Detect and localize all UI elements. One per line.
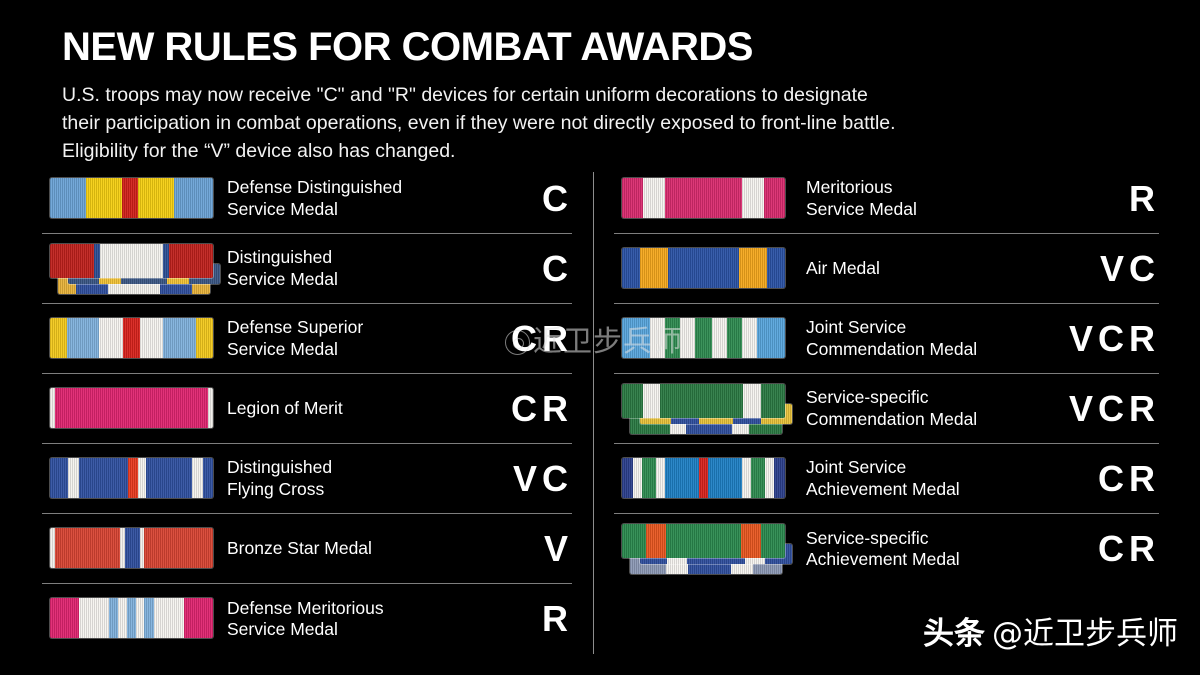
award-name-line: Commendation Medal [806,339,1031,360]
ribbon-joint-service-commendation-medal [614,304,806,374]
ribbon-service-specific-achievement-medal-stack-main [622,524,785,558]
award-devices: R [1037,181,1159,217]
award-row: Service-specificCommendation MedalVCR [614,374,1159,444]
award-devices: CR [454,391,572,427]
ribbon-bronze-star-medal-main [50,528,213,568]
award-row: MeritoriousService MedalR [614,164,1159,234]
ribbon-service-specific-commendation-medal-stack [614,374,806,444]
award-name: Service-specificCommendation Medal [806,387,1037,430]
award-name-line: Commendation Medal [806,409,1031,430]
award-row: Joint ServiceCommendation MedalVCR [614,304,1159,374]
device-letter: V [513,458,537,499]
ribbon-defense-superior-service-medal-main [50,318,213,358]
award-name-line: Distinguished [227,247,448,268]
award-devices: VC [454,461,572,497]
ribbon-service-specific-achievement-medal-stack [614,514,806,584]
device-letter: R [542,318,568,359]
device-letter: C [542,458,568,499]
corner-watermark-handle: @近卫步兵师 [992,616,1178,652]
ribbon-bronze-star-medal [42,514,227,584]
award-name-line: Defense Superior [227,317,448,338]
award-name-line: Meritorious [806,177,1031,198]
header: NEW RULES FOR COMBAT AWARDS U.S. troops … [62,26,1142,165]
subtitle-line-1: U.S. troops may now receive "C" and "R" … [62,81,1092,109]
award-row: Defense DistinguishedService MedalC [42,164,572,234]
award-devices: CR [454,321,572,357]
corner-watermark-brand: 头条 [923,616,985,652]
award-name-line: Service Medal [227,199,448,220]
ribbon-defense-distinguished-service-medal [42,164,227,234]
ribbon-meritorious-service-medal [614,164,806,234]
device-letter: R [1129,528,1155,569]
device-letter: R [1129,318,1155,359]
award-devices: C [454,251,572,287]
award-row: Bronze Star MedalV [42,514,572,584]
awards-column-left: Defense DistinguishedService MedalCDisti… [42,164,572,654]
award-row: DistinguishedFlying CrossVC [42,444,572,514]
device-letter: V [1100,248,1124,289]
award-row: Joint ServiceAchievement MedalCR [614,444,1159,514]
award-name-line: Defense Distinguished [227,177,448,198]
page-title: NEW RULES FOR COMBAT AWARDS [62,26,1142,68]
award-devices: C [454,181,572,217]
device-letter: C [511,318,537,359]
award-name-line: Service-specific [806,387,1031,408]
device-letter: V [1069,318,1093,359]
award-name: Defense MeritoriousService Medal [227,598,454,641]
awards-table: Defense DistinguishedService MedalCDisti… [0,164,1200,664]
award-name-line: Service Medal [227,339,448,360]
award-devices: VC [1037,251,1159,287]
device-letter: C [1098,388,1124,429]
device-letter: C [1098,458,1124,499]
award-name-line: Distinguished [227,457,448,478]
ribbon-air-medal-main [622,248,785,288]
award-name-line: Bronze Star Medal [227,538,448,559]
award-row: Legion of MeritCR [42,374,572,444]
award-name-line: Service Medal [227,619,448,640]
device-letter: R [1129,458,1155,499]
ribbon-defense-superior-service-medal [42,304,227,374]
award-devices: CR [1037,461,1159,497]
ribbon-joint-service-achievement-medal [614,444,806,514]
ribbon-meritorious-service-medal-main [622,178,785,218]
ribbon-air-medal [614,234,806,304]
ribbon-joint-service-commendation-medal-main [622,318,785,358]
award-name-line: Joint Service [806,457,1031,478]
award-name-line: Service-specific [806,528,1031,549]
ribbon-service-specific-commendation-medal-stack-main [622,384,785,418]
award-name-line: Air Medal [806,258,1031,279]
device-letter: R [1129,178,1155,219]
award-devices: VCR [1037,321,1159,357]
page-subtitle: U.S. troops may now receive "C" and "R" … [62,81,1092,165]
subtitle-line-3: Eligibility for the “V” device also has … [62,137,1092,165]
column-divider [593,172,594,654]
ribbon-legion-of-merit [42,374,227,444]
award-name-line: Achievement Medal [806,479,1031,500]
ribbon-distinguished-service-medal-stack-main [50,244,213,278]
device-letter: C [1098,318,1124,359]
ribbon-legion-of-merit-main [50,388,213,428]
award-name: DistinguishedFlying Cross [227,457,454,500]
device-letter: V [1069,388,1093,429]
award-name: Joint ServiceAchievement Medal [806,457,1037,500]
award-name: Service-specificAchievement Medal [806,528,1037,571]
ribbon-defense-meritorious-service-medal [42,584,227,654]
award-devices: R [454,601,572,637]
award-name-line: Service Medal [227,269,448,290]
award-devices: V [454,531,572,567]
ribbon-distinguished-flying-cross [42,444,227,514]
device-letter: C [1098,528,1124,569]
award-name: Air Medal [806,258,1037,279]
device-letter: C [1129,248,1155,289]
award-name: DistinguishedService Medal [227,247,454,290]
awards-column-right: MeritoriousService MedalRAir MedalVCJoin… [614,164,1159,584]
award-name: Defense SuperiorService Medal [227,317,454,360]
award-name-line: Service Medal [806,199,1031,220]
award-name: Legion of Merit [227,398,454,419]
award-row: Air MedalVC [614,234,1159,304]
award-name-line: Legion of Merit [227,398,448,419]
subtitle-line-2: their participation in combat operations… [62,109,1092,137]
device-letter: R [542,598,568,639]
award-devices: VCR [1037,391,1159,427]
corner-watermark: 头条@近卫步兵师 [923,608,1178,653]
award-name-line: Defense Meritorious [227,598,448,619]
award-name: Defense DistinguishedService Medal [227,177,454,220]
ribbon-distinguished-service-medal-stack [42,234,227,304]
device-letter: C [542,178,568,219]
award-row: Service-specificAchievement MedalCR [614,514,1159,584]
award-name: Bronze Star Medal [227,538,454,559]
ribbon-distinguished-flying-cross-main [50,458,213,498]
device-letter: R [1129,388,1155,429]
award-row: Defense SuperiorService MedalCR [42,304,572,374]
device-letter: V [544,528,568,569]
device-letter: C [511,388,537,429]
award-name: Joint ServiceCommendation Medal [806,317,1037,360]
ribbon-defense-meritorious-service-medal-main [50,598,213,638]
device-letter: C [542,248,568,289]
award-name-line: Flying Cross [227,479,448,500]
award-devices: CR [1037,531,1159,567]
device-letter: R [542,388,568,429]
award-name-line: Joint Service [806,317,1031,338]
award-name-line: Achievement Medal [806,549,1031,570]
ribbon-defense-distinguished-service-medal-main [50,178,213,218]
ribbon-joint-service-achievement-medal-main [622,458,785,498]
award-name: MeritoriousService Medal [806,177,1037,220]
award-row: DistinguishedService MedalC [42,234,572,304]
award-row: Defense MeritoriousService MedalR [42,584,572,654]
